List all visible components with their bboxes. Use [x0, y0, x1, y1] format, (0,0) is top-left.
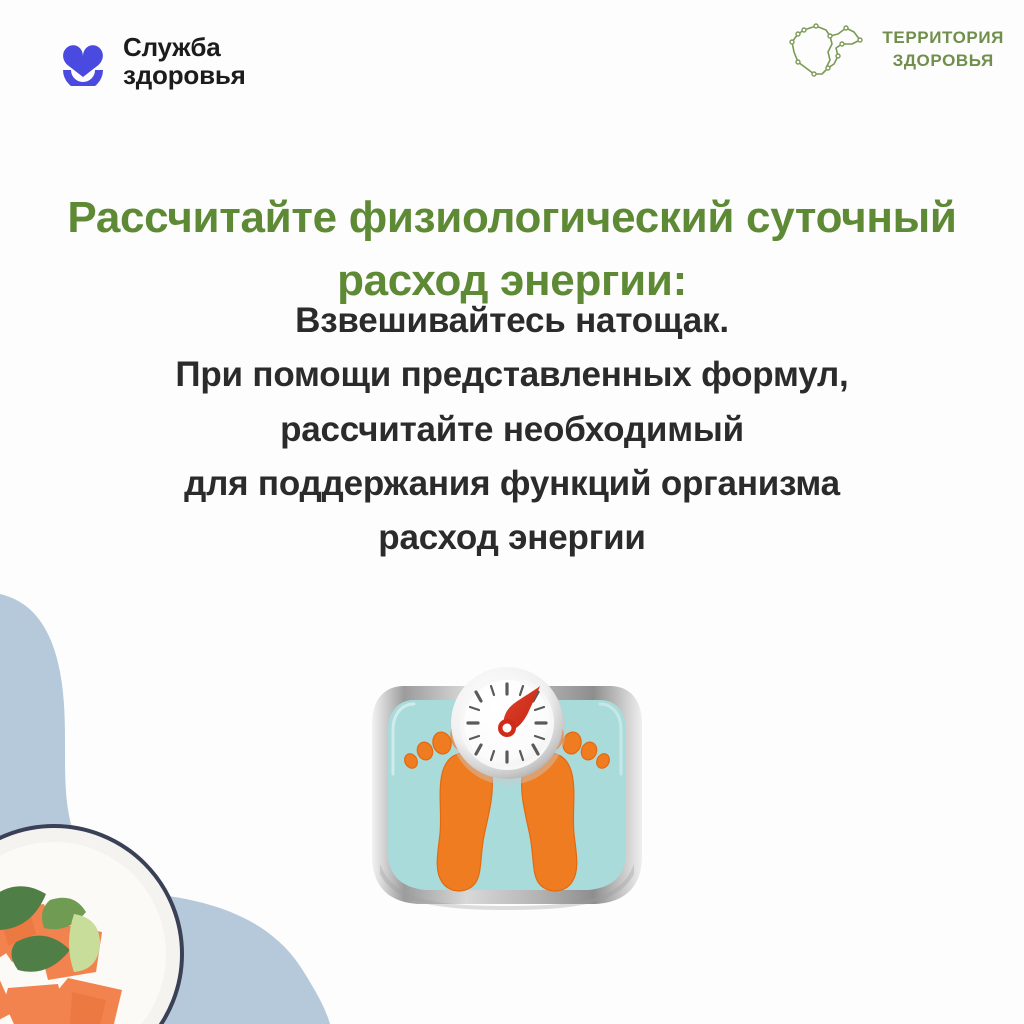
brand-logo-right-text: ТЕРРИТОРИЯ ЗДОРОВЬЯ	[882, 27, 1004, 79]
poster-canvas: Служба здоровья	[0, 0, 1024, 1024]
brand-logo-sluzhba-zdorovya[interactable]: Служба здоровья	[57, 33, 246, 89]
heart-smile-icon	[57, 36, 109, 86]
brand-logo-line2: здоровья	[123, 61, 246, 89]
brand-logo-territoriya-zdorovya[interactable]: ТЕРРИТОРИЯ ЗДОРОВЬЯ	[786, 22, 1004, 84]
body-line-5: расход энергии	[62, 511, 962, 565]
header: Служба здоровья	[0, 0, 1024, 118]
scale-dial	[450, 667, 566, 785]
region-map-outline-icon	[786, 22, 878, 84]
body-line-4: для поддержания функций организма	[62, 457, 962, 511]
brand-logo-line1: Служба	[123, 33, 246, 61]
body-line-1: Взвешивайтесь натощак.	[62, 294, 962, 348]
body-line-3: рассчитайте необходимый	[62, 403, 962, 457]
brand-logo-text: Служба здоровья	[123, 33, 246, 89]
blue-blob-shape	[0, 594, 330, 1024]
body-copy: Взвешивайтесь натощак. При помощи предст…	[62, 294, 962, 565]
salmon-salad-bowl-illustration	[0, 782, 204, 1024]
brand-logo-right-line1: ТЕРРИТОРИЯ	[882, 27, 1004, 50]
body-line-2: При помощи представленных формул,	[62, 348, 962, 402]
bathroom-scale-illustration	[362, 624, 652, 924]
brand-logo-right-line2: ЗДОРОВЬЯ	[882, 50, 1004, 73]
